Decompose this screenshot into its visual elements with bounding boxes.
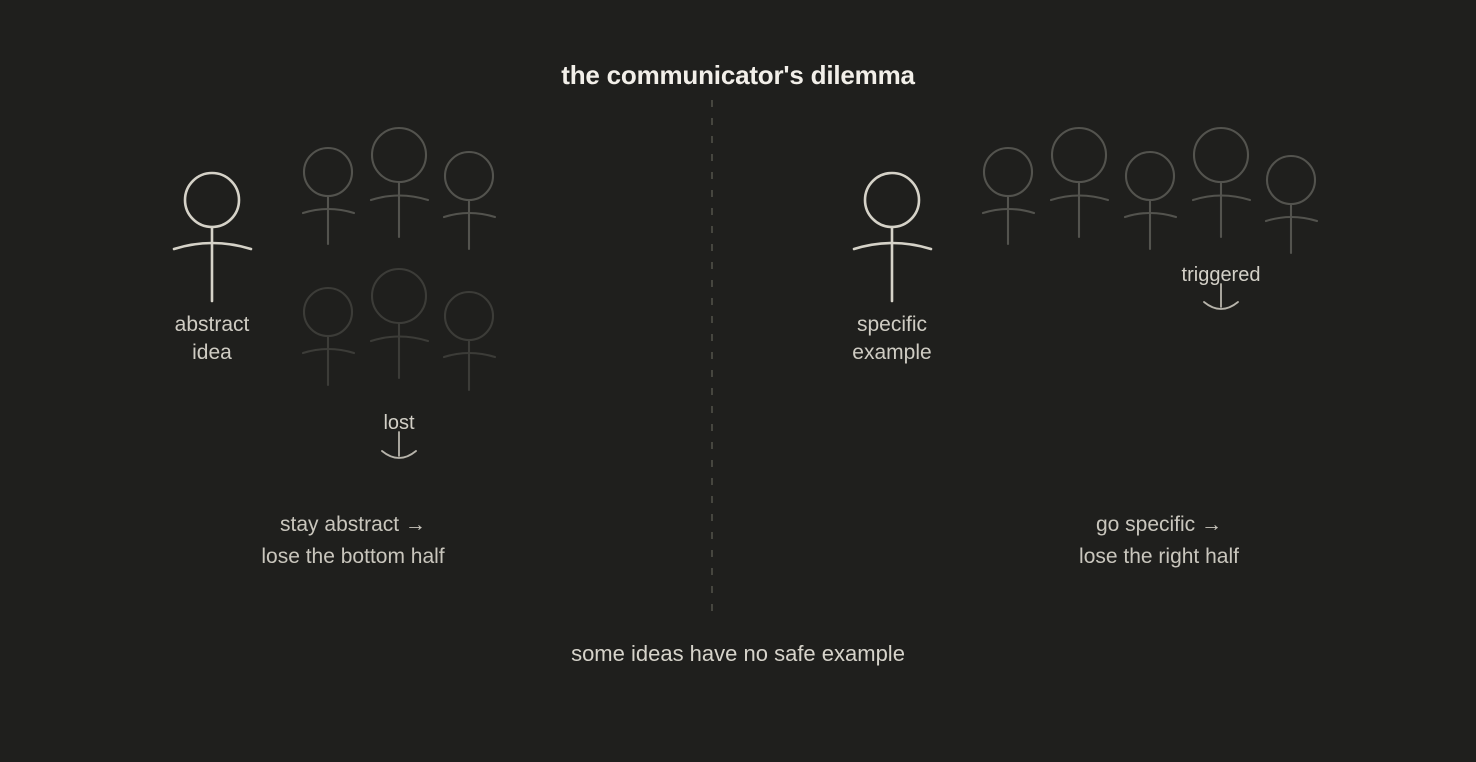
crowd-figure — [983, 148, 1034, 244]
crowd-figure — [1266, 156, 1317, 253]
crowd-figure — [303, 148, 354, 244]
abstract-idea-label-line-1: abstract — [112, 311, 312, 339]
triggered-arrow-icon — [1204, 284, 1238, 309]
diagram-canvas: the communicator's dilemma — [0, 0, 1476, 762]
left-caption-line-1: stay abstract → — [153, 509, 553, 541]
right-caption-line-2: lose the right half — [959, 541, 1359, 573]
lost-arrow-icon — [382, 432, 416, 458]
left-crowd-top-row — [303, 128, 495, 249]
hero-figure-specific-example — [854, 173, 931, 301]
left-caption: stay abstract → lose the bottom half — [153, 509, 553, 573]
abstract-idea-label: abstract idea — [112, 311, 312, 367]
right-caption: go specific → lose the right half — [959, 509, 1359, 573]
crowd-figure — [444, 152, 495, 249]
conclusion-text: some ideas have no safe example — [0, 641, 1476, 667]
left-crowd-bottom-row — [303, 269, 495, 390]
right-crowd-row — [983, 128, 1317, 253]
specific-example-label-line-2: example — [792, 339, 992, 367]
crowd-figure — [444, 292, 495, 390]
right-caption-line-1: go specific → — [959, 509, 1359, 541]
lost-annotation-label: lost — [299, 411, 499, 435]
page-title: the communicator's dilemma — [0, 60, 1476, 91]
specific-example-label: specific example — [792, 311, 992, 367]
abstract-idea-label-line-2: idea — [112, 339, 312, 367]
crowd-figure — [371, 269, 428, 378]
left-caption-line-2: lose the bottom half — [153, 541, 553, 573]
triggered-annotation-label: triggered — [1121, 263, 1321, 287]
specific-example-label-line-1: specific — [792, 311, 992, 339]
hero-figure-abstract-idea — [174, 173, 251, 301]
crowd-figure — [371, 128, 428, 237]
crowd-figure — [1125, 152, 1176, 249]
crowd-figure — [1051, 128, 1108, 237]
crowd-figure — [1193, 128, 1250, 237]
